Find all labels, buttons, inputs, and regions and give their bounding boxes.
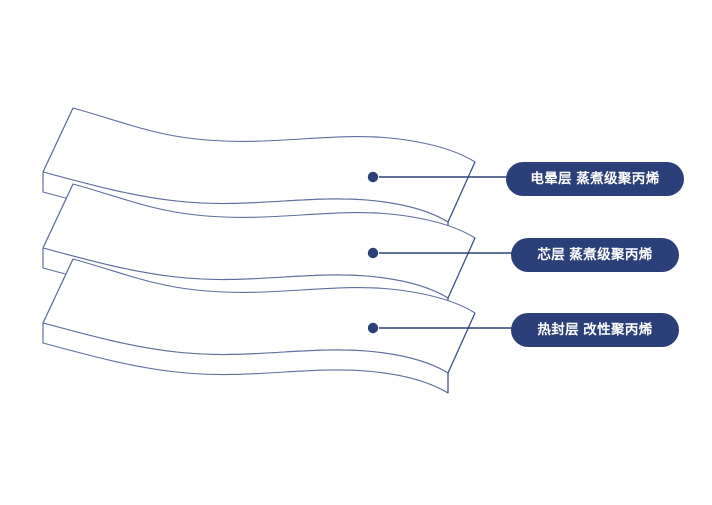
layer-label-corona[interactable]: 电晕层 蒸煮级聚丙烯 bbox=[506, 162, 684, 196]
connector-dot-core bbox=[368, 248, 378, 258]
connector-dot-corona bbox=[368, 172, 378, 182]
layer-label-text-corona: 电晕层 蒸煮级聚丙烯 bbox=[530, 172, 659, 186]
layer-label-text-core: 芯层 蒸煮级聚丙烯 bbox=[537, 248, 652, 262]
diagram-canvas: 电晕层 蒸煮级聚丙烯 芯层 蒸煮级聚丙烯 热封层 改性聚丙烯 bbox=[0, 0, 712, 505]
layer-label-heat-seal[interactable]: 热封层 改性聚丙烯 bbox=[511, 313, 679, 347]
connector-dot-heat-seal bbox=[368, 323, 378, 333]
layer-label-text-heat-seal: 热封层 改性聚丙烯 bbox=[537, 323, 652, 337]
layer-label-core[interactable]: 芯层 蒸煮级聚丙烯 bbox=[511, 238, 679, 272]
